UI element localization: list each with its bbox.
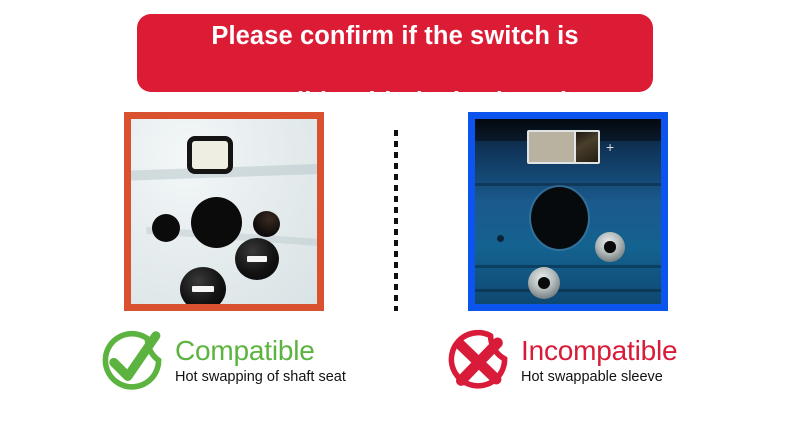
green-check-circle-icon	[97, 326, 167, 396]
small-left-hole-icon	[152, 214, 180, 242]
compatible-title: Compatible	[175, 337, 346, 365]
incompatible-caption: Incompatible Hot swappable sleeve	[443, 326, 677, 396]
compatible-photo-inner	[131, 119, 317, 304]
banner-line-1: Please confirm if the switch is	[211, 22, 578, 50]
pcb-seam-2	[475, 265, 661, 268]
warning-banner-text: Please confirm if the switch is compatib…	[206, 0, 584, 118]
solder-pad-right-icon	[595, 232, 625, 262]
large-center-hole-icon	[531, 187, 588, 249]
hot-swap-socket-bottom-icon	[180, 267, 226, 304]
rounded-rectangle-cutout-icon	[187, 136, 233, 174]
plus-marking-label: +	[606, 140, 614, 154]
compatible-switch-photo	[124, 112, 324, 311]
pcb-seam-1	[475, 183, 661, 186]
pcb-seam-3	[475, 289, 661, 292]
dashed-divider	[394, 130, 398, 311]
small-via-icon	[497, 235, 504, 242]
comparison-panels: +	[0, 112, 790, 322]
solder-pad-bottom-icon	[528, 267, 560, 299]
small-right-hole-icon	[253, 211, 280, 237]
incompatible-subtitle: Hot swappable sleeve	[521, 370, 677, 385]
incompatible-photo-inner: +	[475, 119, 661, 304]
smd-component-dark-section	[574, 132, 598, 162]
compatible-caption: Compatible Hot swapping of shaft seat	[97, 326, 346, 396]
incompatible-caption-text: Incompatible Hot swappable sleeve	[521, 337, 677, 385]
warning-banner: Please confirm if the switch is compatib…	[137, 14, 653, 92]
compatible-caption-text: Compatible Hot swapping of shaft seat	[175, 337, 346, 385]
compatible-subtitle: Hot swapping of shaft seat	[175, 370, 346, 385]
metallic-smd-component-icon	[527, 130, 600, 164]
incompatible-title: Incompatible	[521, 337, 677, 365]
hot-swap-socket-right-icon	[235, 238, 279, 280]
incompatible-switch-photo: +	[468, 112, 668, 311]
large-center-hole-icon	[191, 197, 242, 248]
red-cross-circle-icon	[443, 326, 513, 396]
